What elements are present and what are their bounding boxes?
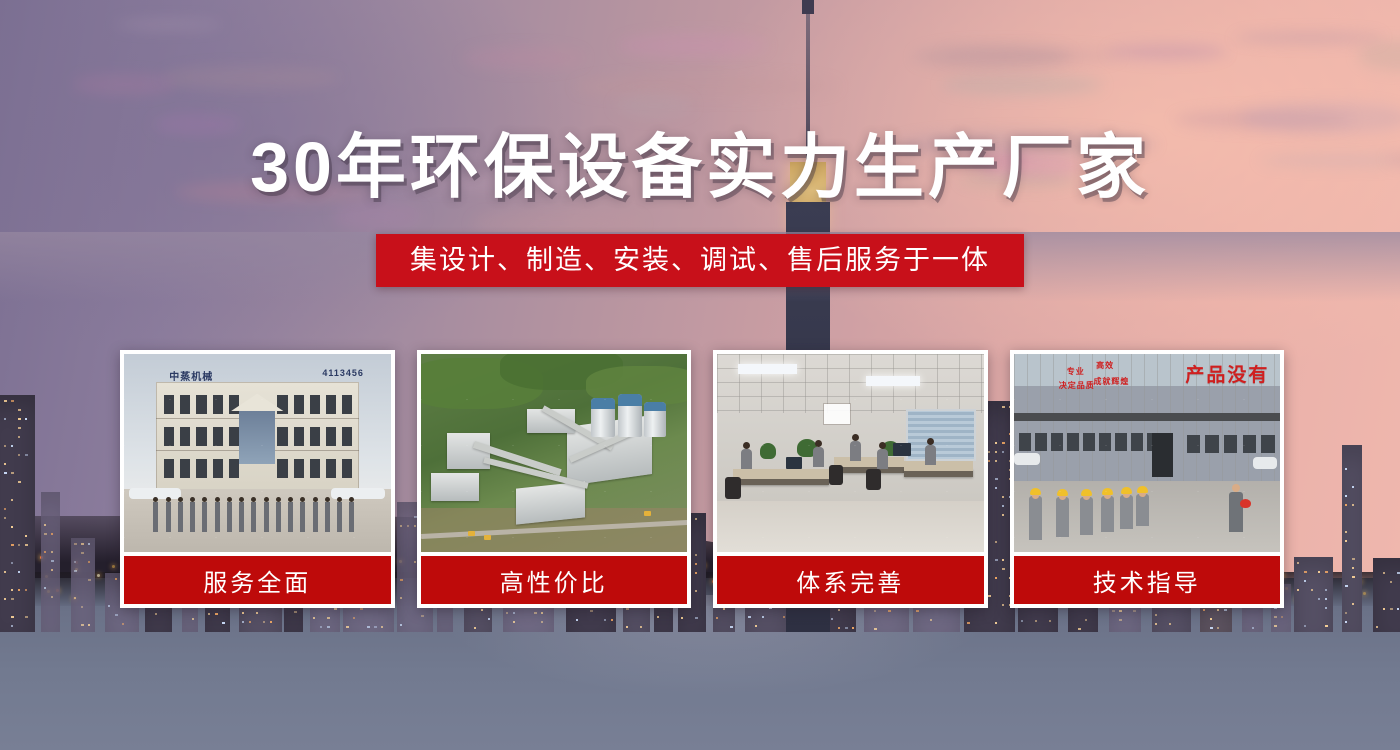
skyline-building [1294,557,1334,632]
staff-member [166,502,171,532]
card-photo-plant-aerial [421,354,688,552]
staff-member [313,502,318,532]
staff-member [276,502,281,532]
skyline-building [41,492,60,632]
card-photo-factory-yard: 产品没有 专业 高效 决定品质 成就辉煌 [1014,354,1281,552]
wall-poster [824,404,850,424]
staff-member [215,502,220,532]
factory-slogan-side: 专业 [1067,366,1085,377]
factory-slogan-side: 决定品质 [1059,380,1095,391]
factory-worker [1101,496,1114,532]
staff-member [239,502,244,532]
staff-member [153,502,158,532]
window-blinds [906,409,975,460]
silo [618,394,642,438]
factory-worker [1120,495,1133,529]
silo [644,402,665,438]
card-photo-office-building: 中蒸机械 4113456 [124,354,391,552]
office-worker [850,441,861,461]
staff-member [288,502,293,532]
skyline-building [0,395,35,632]
staff-member [251,502,256,532]
subtitle-ribbon: 集设计、制造、安装、调试、售后服务于一体 [376,234,1024,287]
building-entrance [239,411,275,464]
office-worker [813,447,824,467]
red-helmet [1240,499,1251,508]
building-sign-text: 中蒸机械 [169,368,213,383]
feature-card-strip: 中蒸机械 4113456 服务全面 [120,350,1284,608]
skyline-building [1342,445,1362,632]
card-photo-office-interior [717,354,984,552]
building-phone-text: 4113456 [322,368,364,378]
feature-card[interactable]: 产品没有 专业 高效 决定品质 成就辉煌 技术指导 [1010,350,1285,608]
page-title: 30年环保设备实力生产厂家 [0,132,1400,202]
office-worker [877,449,888,469]
factory-slogan-side: 高效 [1096,360,1114,371]
office-worker [925,445,936,465]
promo-banner: 30年环保设备实力生产厂家 集设计、制造、安装、调试、售后服务于一体 中蒸机械 … [0,0,1400,750]
factory-worker [1080,497,1093,535]
factory-worker [1056,497,1069,537]
supervisor [1229,492,1243,532]
staff-member [202,502,207,532]
subtitle-container: 集设计、制造、安装、调试、售后服务于一体 [0,234,1400,287]
feature-card[interactable]: 体系完善 [713,350,988,608]
factory-door [1152,433,1173,477]
feature-card[interactable]: 高性价比 [417,350,692,608]
factory-slogan-main: 产品没有 [1185,360,1269,387]
staff-member [349,502,354,532]
card-caption: 高性价比 [421,556,688,604]
card-caption: 体系完善 [717,556,984,604]
tower-spire-knob [802,0,814,14]
factory-worker [1136,494,1149,526]
factory-worker [1029,496,1042,540]
feature-card[interactable]: 中蒸机械 4113456 服务全面 [120,350,395,608]
staff-member [227,502,232,532]
silo [591,398,615,438]
office-worker [741,449,752,469]
skyline-building [1373,558,1400,632]
staff-member [300,502,305,532]
card-caption: 服务全面 [124,556,391,604]
roof-eave [1014,413,1281,421]
staff-member [178,502,183,532]
staff-member [325,502,330,532]
factory-slogan-side: 成就辉煌 [1093,376,1129,387]
staff-member [264,502,269,532]
staff-member [190,502,195,532]
skyline-building [71,538,95,632]
staff-member [337,502,342,532]
card-caption: 技术指导 [1014,556,1281,604]
